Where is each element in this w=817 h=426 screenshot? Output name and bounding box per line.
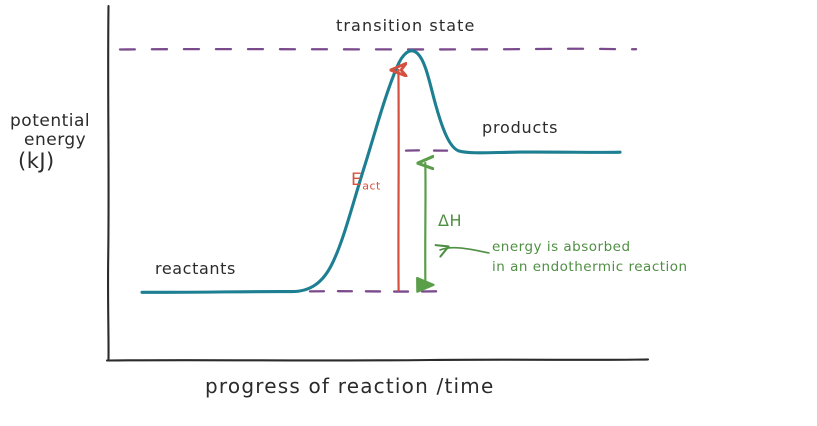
- activation-energy-symbol: E: [351, 170, 362, 190]
- endothermic-note: energy is absorbed in an endothermic rea…: [492, 238, 722, 277]
- y-axis-line: [108, 6, 109, 360]
- y-axis-label-line2: energy: [8, 131, 108, 150]
- y-axis-label: potential energy (kJ): [8, 112, 108, 174]
- products-label: products: [482, 118, 558, 137]
- transition-state-level-line: [120, 49, 636, 50]
- note-pointer-arrow: [440, 248, 489, 253]
- endothermic-note-line2: in an endothermic reaction: [492, 258, 722, 278]
- y-axis-label-line1: potential: [8, 112, 108, 131]
- activation-energy-subscript: act: [362, 179, 381, 192]
- y-axis-label-line3: (kJ): [8, 150, 108, 174]
- enthalpy-change-label: ΔH: [438, 211, 462, 230]
- diagram-canvas: [0, 0, 817, 426]
- activation-energy-label: Eact: [351, 170, 381, 192]
- energy-profile-diagram: potential energy (kJ) progress of reacti…: [0, 0, 817, 426]
- x-axis-line: [107, 359, 648, 360]
- reactants-label: reactants: [155, 259, 236, 278]
- endothermic-note-line1: energy is absorbed: [492, 238, 722, 258]
- x-axis-label: progress of reaction /time: [205, 374, 494, 398]
- transition-state-label: transition state: [336, 16, 475, 35]
